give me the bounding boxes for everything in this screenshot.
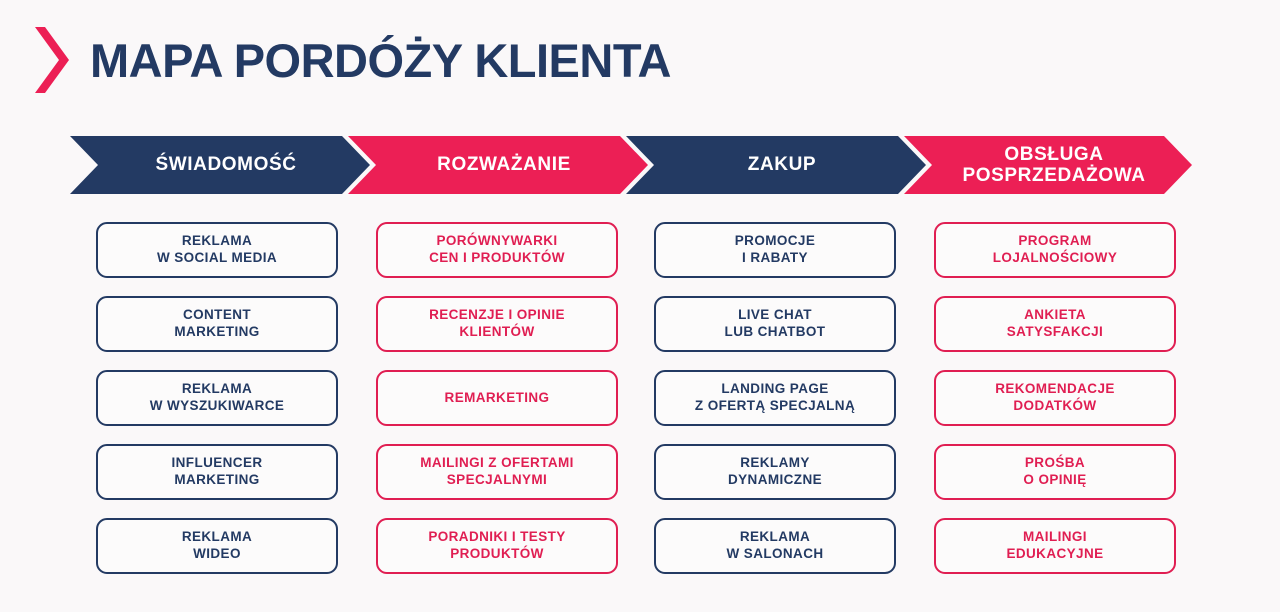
touchpoint-card[interactable]: RECENZJE I OPINIE KLIENTÓW: [376, 296, 618, 352]
touchpoint-card[interactable]: REKLAMA W WYSZUKIWARCE: [96, 370, 338, 426]
column-rozwazanie: PORÓWNYWARKI CEN I PRODUKTÓW RECENZJE I …: [376, 222, 618, 574]
touchpoint-card[interactable]: PROMOCJE I RABATY: [654, 222, 896, 278]
touchpoint-label: REKLAMA W SOCIAL MEDIA: [151, 233, 283, 267]
touchpoint-card[interactable]: INFLUENCER MARKETING: [96, 444, 338, 500]
touchpoint-label: REKLAMA W SALONACH: [721, 529, 830, 563]
stage-banner-label: ROZWAŻANIE: [411, 154, 585, 175]
touchpoint-label: PROŚBA O OPINIĘ: [1017, 455, 1092, 489]
touchpoint-label: ANKIETA SATYSFAKCJI: [1001, 307, 1109, 341]
stage-banner-label: ŚWIADOMOŚĆ: [129, 154, 310, 175]
touchpoint-card[interactable]: LIVE CHAT LUB CHATBOT: [654, 296, 896, 352]
touchpoint-label: RECENZJE I OPINIE KLIENTÓW: [423, 307, 571, 341]
page-header: MAPA PORDÓŻY KLIENTA: [0, 20, 1280, 100]
touchpoint-card[interactable]: MAILINGI Z OFERTAMI SPECJALNYMI: [376, 444, 618, 500]
touchpoint-label: PORADNIKI I TESTY PRODUKTÓW: [422, 529, 571, 563]
touchpoint-card[interactable]: PORÓWNYWARKI CEN I PRODUKTÓW: [376, 222, 618, 278]
touchpoint-card[interactable]: REKLAMA W SALONACH: [654, 518, 896, 574]
touchpoint-label: REKLAMA WIDEO: [176, 529, 258, 563]
touchpoint-card[interactable]: REKLAMY DYNAMICZNE: [654, 444, 896, 500]
touchpoint-card[interactable]: REKLAMA WIDEO: [96, 518, 338, 574]
touchpoint-label: LIVE CHAT LUB CHATBOT: [719, 307, 832, 341]
touchpoint-label: PORÓWNYWARKI CEN I PRODUKTÓW: [423, 233, 571, 267]
touchpoint-label: REKLAMY DYNAMICZNE: [722, 455, 828, 489]
touchpoint-label: INFLUENCER MARKETING: [166, 455, 269, 489]
touchpoint-label: REKOMENDACJE DODATKÓW: [989, 381, 1121, 415]
page-title: MAPA PORDÓŻY KLIENTA: [90, 37, 671, 84]
touchpoint-card[interactable]: LANDING PAGE Z OFERTĄ SPECJALNĄ: [654, 370, 896, 426]
touchpoint-label: LANDING PAGE Z OFERTĄ SPECJALNĄ: [689, 381, 861, 415]
stage-banner-label: OBSŁUGA POSPRZEDAŻOWA: [936, 144, 1159, 187]
touchpoint-card[interactable]: ANKIETA SATYSFAKCJI: [934, 296, 1176, 352]
stage-banner-zakup[interactable]: ZAKUP: [626, 136, 926, 194]
stage-banner-obsluga-posprzedazowa[interactable]: OBSŁUGA POSPRZEDAŻOWA: [904, 136, 1192, 194]
touchpoint-label: PROGRAM LOJALNOŚCIOWY: [987, 233, 1123, 267]
column-obsluga-posprzedazowa: PROGRAM LOJALNOŚCIOWY ANKIETA SATYSFAKCJ…: [934, 222, 1176, 574]
touchpoint-label: MAILINGI Z OFERTAMI SPECJALNYMI: [414, 455, 580, 489]
chevron-right-icon: [32, 27, 72, 93]
column-zakup: PROMOCJE I RABATY LIVE CHAT LUB CHATBOT …: [654, 222, 896, 574]
stage-banner-swiadomosc[interactable]: ŚWIADOMOŚĆ: [70, 136, 370, 194]
touchpoint-label: REKLAMA W WYSZUKIWARCE: [144, 381, 291, 415]
touchpoint-card[interactable]: REKOMENDACJE DODATKÓW: [934, 370, 1176, 426]
touchpoint-card[interactable]: PROGRAM LOJALNOŚCIOWY: [934, 222, 1176, 278]
column-swiadomosc: REKLAMA W SOCIAL MEDIA CONTENT MARKETING…: [96, 222, 338, 574]
touchpoint-card[interactable]: MAILINGI EDUKACYJNE: [934, 518, 1176, 574]
touchpoint-card[interactable]: CONTENT MARKETING: [96, 296, 338, 352]
stage-banner-rozwazanie[interactable]: ROZWAŻANIE: [348, 136, 648, 194]
touchpoint-label: CONTENT MARKETING: [168, 307, 265, 341]
touchpoint-columns: REKLAMA W SOCIAL MEDIA CONTENT MARKETING…: [0, 222, 1280, 592]
stage-banner-label: ZAKUP: [722, 154, 830, 175]
touchpoint-card[interactable]: REMARKETING: [376, 370, 618, 426]
touchpoint-card[interactable]: PROŚBA O OPINIĘ: [934, 444, 1176, 500]
touchpoint-label: PROMOCJE I RABATY: [729, 233, 821, 267]
touchpoint-card[interactable]: PORADNIKI I TESTY PRODUKTÓW: [376, 518, 618, 574]
touchpoint-label: REMARKETING: [439, 390, 556, 407]
touchpoint-card[interactable]: REKLAMA W SOCIAL MEDIA: [96, 222, 338, 278]
touchpoint-label: MAILINGI EDUKACYJNE: [1000, 529, 1109, 563]
stage-banner-row: ŚWIADOMOŚĆ ROZWAŻANIE ZAKUP OBSŁUGA POSP…: [70, 136, 1192, 194]
